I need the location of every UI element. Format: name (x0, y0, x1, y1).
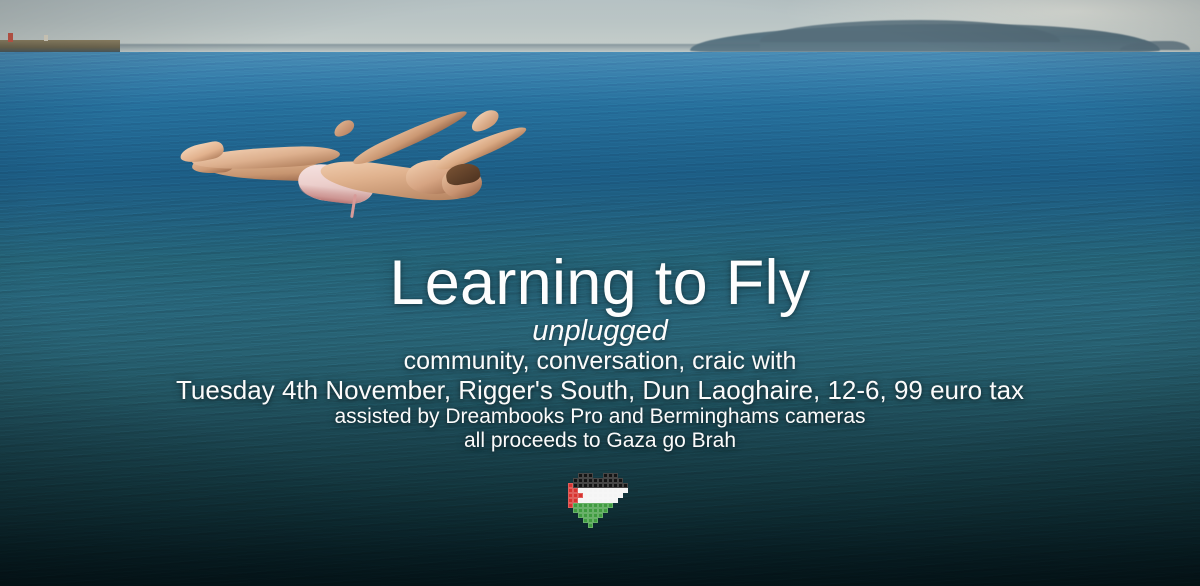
heart-pixel (613, 498, 618, 503)
heart-pixel (608, 503, 613, 508)
heart-pixel (593, 518, 598, 523)
heart-pixel (603, 508, 608, 513)
poster-subtitle: unplugged (0, 316, 1200, 348)
heart-pixel (623, 488, 628, 493)
pixel-heart-grid (568, 473, 630, 529)
palestine-pixel-heart-icon (568, 473, 630, 529)
pier-marker-white (44, 35, 48, 41)
diver-hand-back (468, 106, 502, 135)
poster-details: Tuesday 4th November, Rigger's South, Du… (0, 375, 1200, 406)
heart-pixel (588, 523, 593, 528)
poster-tagline: community, conversation, craic with (0, 347, 1200, 376)
diver-hand-forward (331, 117, 357, 139)
pier-marker-red (8, 33, 13, 42)
breakwater-pier (0, 40, 120, 52)
diver-figure (170, 108, 520, 258)
event-poster: Learning to Fly unplugged community, con… (0, 0, 1200, 586)
poster-credits: assisted by Dreambooks Pro and Bermingha… (0, 405, 1200, 429)
heart-pixel (618, 493, 623, 498)
heart-pixel (598, 513, 603, 518)
poster-proceeds: all proceeds to Gaza go Brah (0, 429, 1200, 453)
poster-title: Learning to Fly (0, 252, 1200, 315)
